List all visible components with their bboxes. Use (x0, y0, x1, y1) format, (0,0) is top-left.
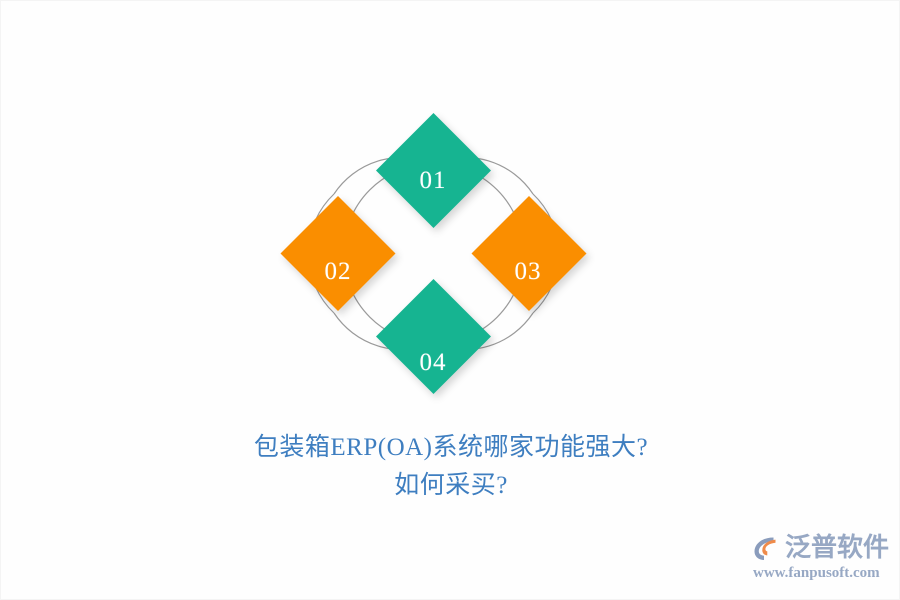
node-02-diamond[interactable] (281, 196, 396, 311)
node-03-diamond[interactable] (472, 196, 587, 311)
watermark-logo-row: 泛普软件 (751, 533, 889, 563)
four-node-diamond-diagram: 01 02 03 04 (276, 106, 591, 401)
watermark-url-text: www.fanpusoft.com (753, 565, 880, 582)
canvas: 01 02 03 04 包装箱ERP(OA)系统哪家功能强大? 如何采买? 泛普… (0, 0, 900, 600)
fanpu-swoosh-logo-icon (751, 533, 781, 563)
watermark: 泛普软件 www.fanpusoft.com (751, 533, 887, 589)
watermark-brand-text: 泛普软件 (785, 533, 889, 563)
caption-line-1: 包装箱ERP(OA)系统哪家功能强大? (1, 429, 900, 467)
caption-block: 包装箱ERP(OA)系统哪家功能强大? 如何采买? (1, 429, 900, 505)
diagram-graphics (276, 106, 591, 401)
caption-line-2: 如何采买? (1, 467, 900, 505)
node-01-diamond[interactable] (376, 113, 491, 228)
node-04-diamond[interactable] (376, 279, 491, 394)
